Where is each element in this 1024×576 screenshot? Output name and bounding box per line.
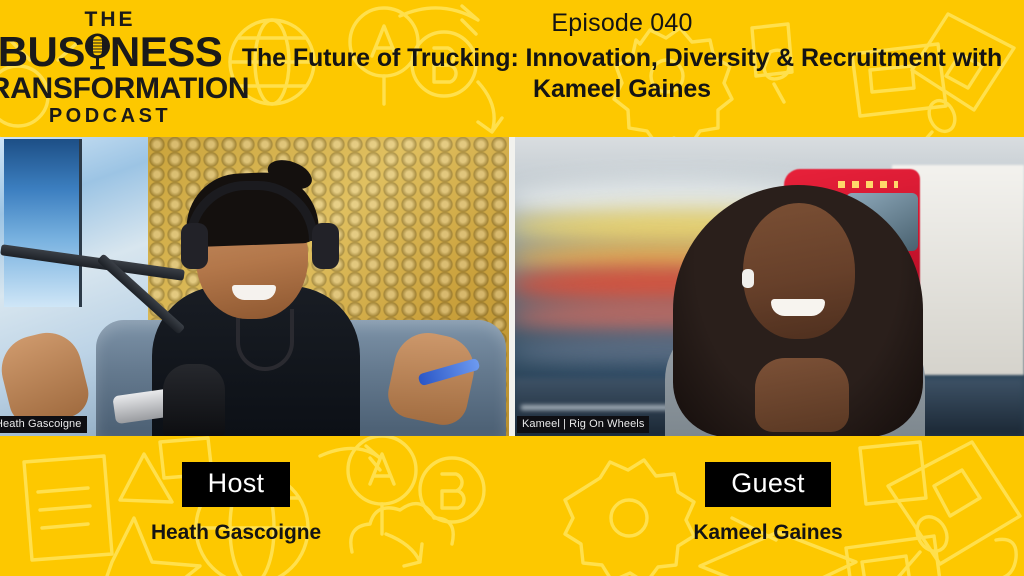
- studio-window: [4, 139, 82, 307]
- guest-smile: [771, 299, 825, 316]
- episode-title-block: Episode 040 The Future of Trucking: Inno…: [222, 8, 1022, 104]
- logo-line-transformation: TRANSFORMATION: [0, 74, 249, 104]
- studio-microphone-icon: [163, 364, 225, 436]
- microphone-icon: [84, 31, 111, 73]
- guest-name: Kameel Gaines: [618, 521, 918, 545]
- footer-credits: Host Heath Gascoigne Guest Kameel Gaines: [0, 436, 1024, 576]
- headphone-earcup-left: [181, 223, 208, 269]
- podcast-logo: THE BUS NESS TRANSFORMATION PODCAST: [6, 4, 214, 130]
- episode-title: The Future of Trucking: Innovation, Dive…: [222, 43, 1022, 104]
- guest-head: [743, 203, 855, 339]
- logo-word-bus: BUS: [0, 32, 85, 72]
- host-role-badge: Host: [182, 462, 291, 507]
- host-smile: [232, 285, 276, 300]
- header-banner: THE BUS NESS TRANSFORMATION PODCAST E: [0, 0, 1024, 137]
- logo-word-ness: NESS: [110, 32, 222, 72]
- host-nametag: Heath Gascoigne: [0, 416, 87, 433]
- earbud-icon: [742, 269, 754, 288]
- guest-role-badge: Guest: [705, 462, 831, 507]
- logo-line-the: THE: [85, 9, 136, 30]
- guest-nametag: Kameel | Rig On Wheels: [517, 416, 649, 433]
- logo-line-business: BUS NESS: [0, 31, 222, 73]
- episode-number: Episode 040: [222, 8, 1022, 39]
- host-name: Heath Gascoigne: [86, 521, 386, 545]
- host-credit-block: Host Heath Gascoigne: [86, 462, 386, 545]
- guest-clasped-hands: [755, 358, 849, 432]
- host-video-panel[interactable]: Heath Gascoigne: [0, 137, 509, 436]
- guest-video-panel[interactable]: Kameel | Rig On Wheels: [515, 137, 1024, 436]
- logo-line-podcast: PODCAST: [49, 106, 171, 126]
- video-grid: Heath Gascoigne Kameel | Rig On Wheels: [0, 137, 1024, 436]
- guest-credit-block: Guest Kameel Gaines: [618, 462, 918, 545]
- truck-marker-lights: [838, 181, 898, 188]
- headphone-earcup-right: [312, 223, 339, 269]
